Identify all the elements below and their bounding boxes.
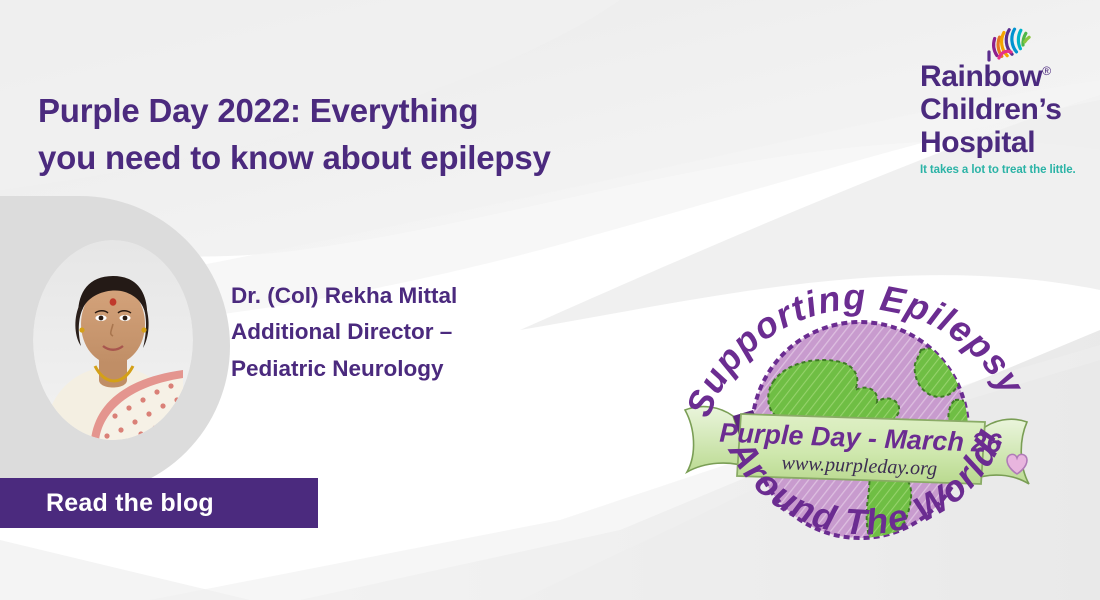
page-title: Purple Day 2022: Everything you need to … <box>38 88 551 182</box>
hospital-logo-line-2: Children’s <box>920 93 1085 126</box>
avatar <box>33 240 193 440</box>
rainbow-swirl-icon <box>985 18 1033 62</box>
read-the-blog-button[interactable]: Read the blog <box>0 478 318 528</box>
hospital-logo-line-1: Rainbow® <box>920 60 1085 93</box>
hospital-logo-line-3: Hospital <box>920 126 1085 159</box>
registered-trademark-icon: ® <box>1042 64 1050 78</box>
hospital-logo[interactable]: Rainbow® Children’s Hospital It takes a … <box>920 22 1085 176</box>
purple-day-logo: Purple Day - March 26 www.purpleday.org … <box>655 232 1055 572</box>
doctor-credentials: Dr. (Col) Rekha Mittal Additional Direct… <box>231 278 457 387</box>
hospital-tagline: It takes a lot to treat the little. <box>920 164 1085 176</box>
promotional-banner: Purple Day 2022: Everything you need to … <box>0 0 1100 600</box>
hospital-name-rainbow: Rainbow <box>920 60 1042 93</box>
read-the-blog-label: Read the blog <box>46 489 214 518</box>
